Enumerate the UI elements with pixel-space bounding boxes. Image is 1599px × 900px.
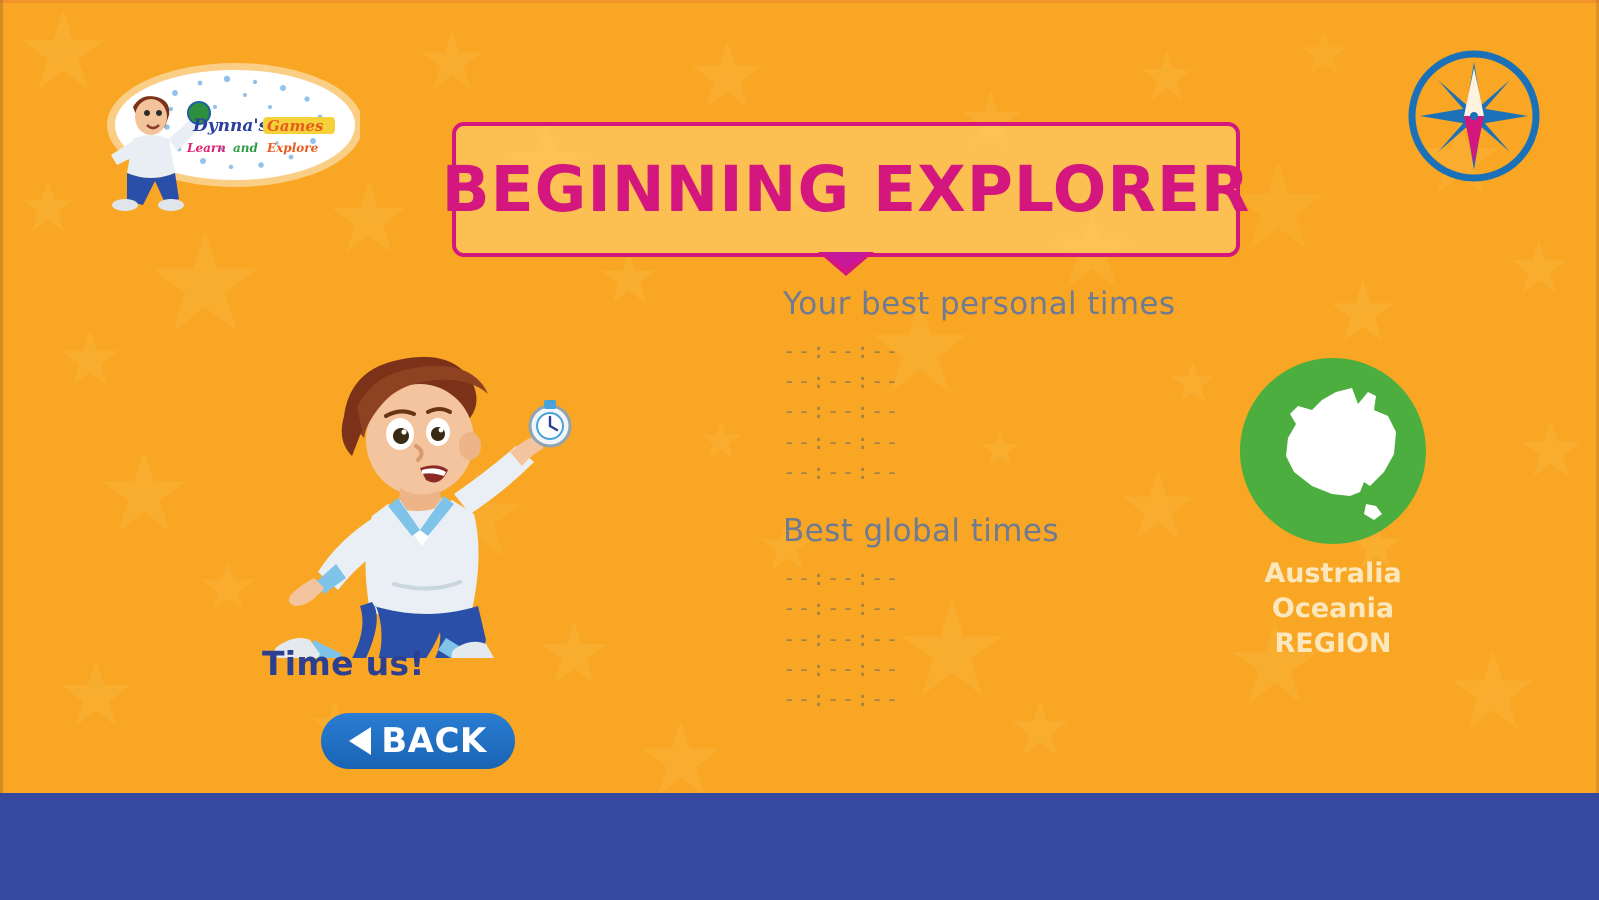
region-label: Australia Oceania REGION	[1238, 556, 1428, 661]
time-row: --:--:--	[783, 457, 1303, 487]
time-row: --:--:--	[783, 366, 1303, 396]
region-badge[interactable]: Australia Oceania REGION	[1238, 358, 1428, 661]
times-panel: Your best personal times --:--:-- --:--:…	[783, 286, 1303, 740]
left-edge-line	[0, 0, 3, 900]
svg-text:Learn: Learn	[186, 141, 226, 155]
banner-pointer-inner	[822, 252, 870, 269]
time-row: --:--:--	[783, 396, 1303, 426]
time-row: --:--:--	[783, 336, 1303, 366]
personal-times-heading: Your best personal times	[783, 286, 1303, 322]
svg-text:Dynna's: Dynna's	[192, 116, 269, 136]
personal-times-list: --:--:-- --:--:-- --:--:-- --:--:-- --:-…	[783, 336, 1303, 487]
region-line-3: REGION	[1238, 626, 1428, 661]
bottom-bar	[0, 793, 1599, 900]
beginning-explorer-screen: Dynna's Games Learn and Explore BEGINNIN…	[0, 0, 1599, 900]
back-button-label: BACK	[381, 721, 487, 761]
svg-text:and: and	[233, 141, 259, 155]
page-title: BEGINNING EXPLORER	[442, 153, 1251, 226]
time-row: --:--:--	[783, 427, 1303, 457]
back-button[interactable]: BACK	[321, 713, 515, 769]
time-row: --:--:--	[783, 593, 1303, 623]
boy-with-stopwatch-illustration	[248, 328, 588, 658]
region-circle	[1240, 358, 1426, 544]
time-us-caption: Time us!	[262, 644, 425, 683]
global-times-heading: Best global times	[783, 513, 1303, 549]
time-row: --:--:--	[783, 563, 1303, 593]
dynnas-games-logo[interactable]: Dynna's Games Learn and Explore	[55, 55, 360, 215]
time-row: --:--:--	[783, 654, 1303, 684]
global-times-list: --:--:-- --:--:-- --:--:-- --:--:-- --:-…	[783, 563, 1303, 714]
left-triangle-icon	[349, 727, 371, 755]
time-row: --:--:--	[783, 684, 1303, 714]
australia-map-icon	[1240, 358, 1426, 544]
compass-rose-icon[interactable]	[1398, 40, 1550, 192]
svg-text:Games: Games	[267, 117, 324, 135]
time-row: --:--:--	[783, 624, 1303, 654]
page-title-banner: BEGINNING EXPLORER	[452, 122, 1240, 257]
region-line-2: Oceania	[1238, 591, 1428, 626]
top-edge-line	[0, 0, 1599, 3]
region-line-1: Australia	[1238, 556, 1428, 591]
svg-text:Explore: Explore	[266, 141, 319, 155]
